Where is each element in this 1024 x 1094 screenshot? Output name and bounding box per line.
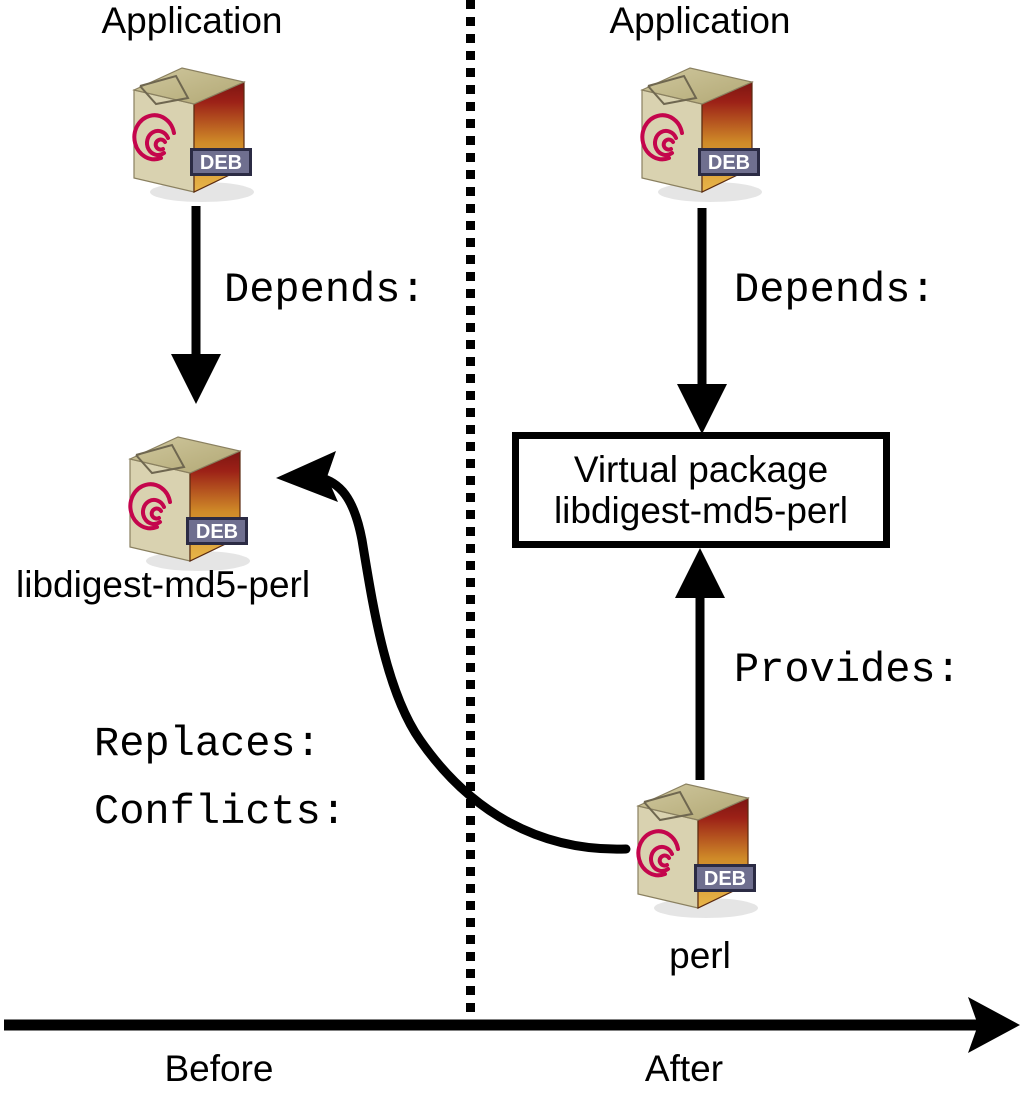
after-application-package-icon: DEB (624, 56, 784, 206)
diagram-canvas: Application (0, 0, 1024, 1094)
before-libdigest-label: libdigest-md5-perl (16, 566, 310, 605)
before-after-divider (466, 0, 475, 1030)
virtual-package-line1: Virtual package (574, 449, 828, 490)
after-provides-label: Provides: (734, 648, 961, 692)
svg-text:DEB: DEB (708, 152, 750, 174)
timeline-after-label: After (645, 1050, 723, 1089)
svg-text:DEB: DEB (200, 152, 242, 174)
deb-badge: DEB (190, 148, 252, 176)
deb-badge: DEB (694, 864, 756, 892)
before-depends-arrow (171, 206, 221, 404)
after-depends-label: Depends: (734, 268, 936, 312)
after-perl-package-icon: DEB (620, 772, 780, 922)
svg-text:DEB: DEB (704, 868, 746, 890)
deb-badge: DEB (698, 148, 760, 176)
conflicts-label: Conflicts: (94, 790, 346, 834)
replaces-label: Replaces: (94, 722, 321, 766)
virtual-package-line2: libdigest-md5-perl (554, 490, 848, 531)
before-application-package-icon: DEB (116, 56, 276, 206)
timeline-axis (4, 997, 1020, 1053)
before-depends-label: Depends: (224, 268, 426, 312)
timeline-before-label: Before (164, 1050, 273, 1089)
before-application-label: Application (101, 2, 282, 41)
virtual-package-box: Virtual package libdigest-md5-perl (512, 432, 890, 548)
after-provides-arrow (675, 548, 725, 780)
after-depends-arrow (677, 208, 727, 434)
after-perl-label: perl (669, 937, 731, 976)
before-libdigest-package-icon: DEB (112, 425, 272, 575)
deb-badge: DEB (186, 517, 248, 545)
svg-text:DEB: DEB (196, 521, 238, 543)
after-application-label: Application (609, 2, 790, 41)
